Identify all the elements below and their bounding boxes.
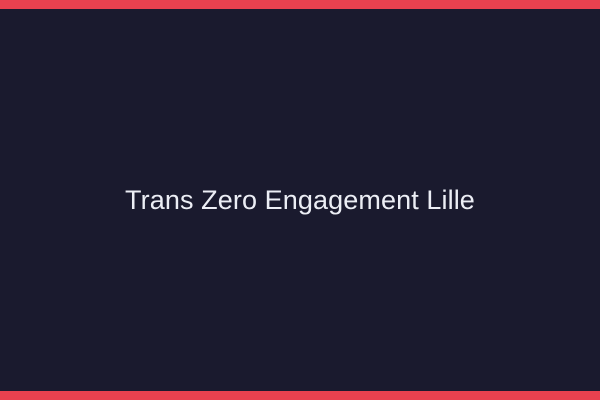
top-accent-bar — [0, 0, 600, 9]
placeholder-banner: Trans Zero Engagement Lille — [0, 0, 600, 400]
banner-content-area: Trans Zero Engagement Lille — [0, 9, 600, 391]
banner-title: Trans Zero Engagement Lille — [125, 184, 475, 216]
bottom-accent-bar — [0, 391, 600, 400]
